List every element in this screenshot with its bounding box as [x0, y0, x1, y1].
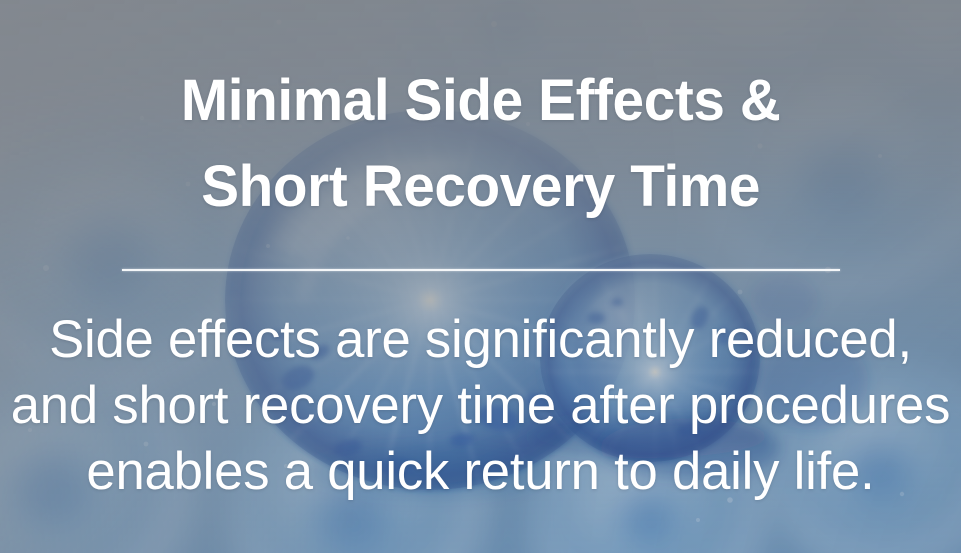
- body-line-3: enables a quick return to daily life.: [11, 439, 950, 505]
- body-line-2: and short recovery time after procedures: [11, 373, 950, 439]
- slide-content: Minimal Side Effects & Short Recovery Ti…: [0, 0, 961, 553]
- slide-body-text: Side effects are significantly reduced, …: [11, 271, 950, 505]
- body-line-1: Side effects are significantly reduced,: [11, 307, 950, 373]
- slide-heading: Minimal Side Effects & Short Recovery Ti…: [181, 0, 781, 230]
- heading-line-1: Minimal Side Effects &: [181, 58, 781, 144]
- heading-line-2: Short Recovery Time: [181, 144, 781, 230]
- hero-slide: Minimal Side Effects & Short Recovery Ti…: [0, 0, 961, 553]
